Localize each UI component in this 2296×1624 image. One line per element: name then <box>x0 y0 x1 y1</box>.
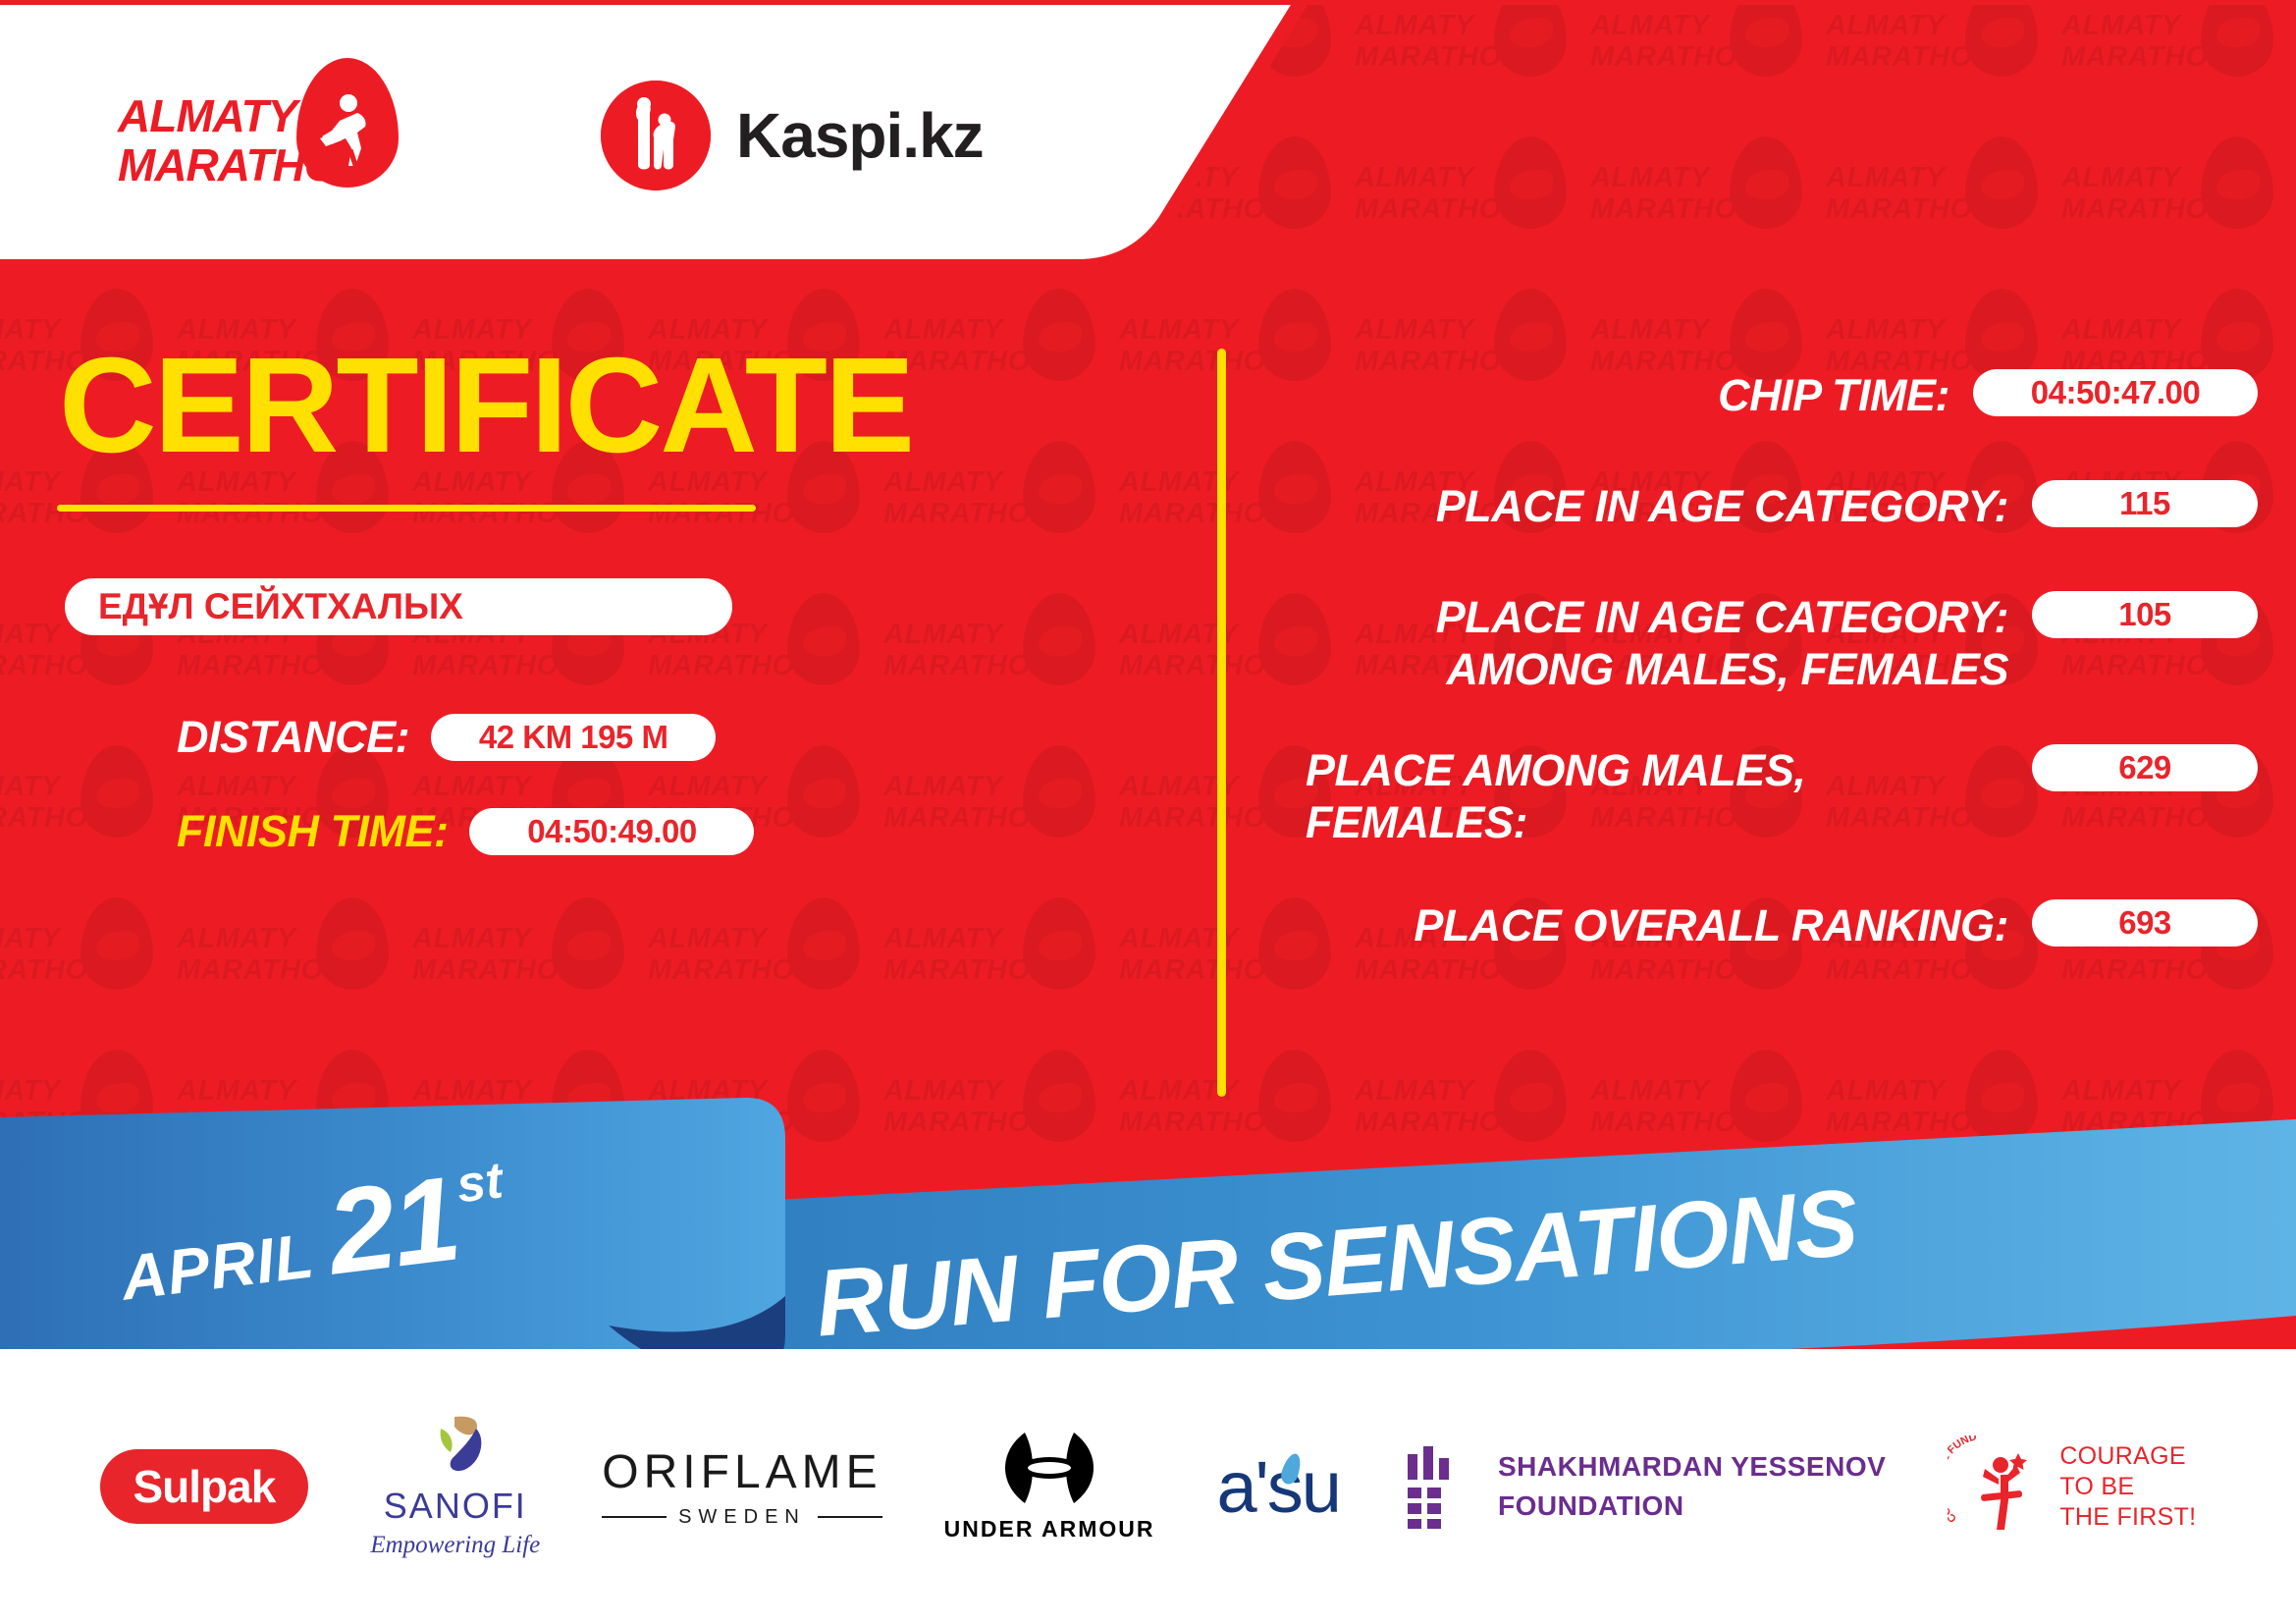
place-age-category-gender-field: 105 <box>2032 591 2258 638</box>
place-age-category-label: PLACE IN AGE CATEGORY: <box>1276 480 2008 532</box>
participant-name-value: ЕДҰЛ СЕЙХТХАЛЫХ <box>98 586 463 627</box>
event-day: 21 <box>320 1149 465 1301</box>
place-among-gender-label: PLACE AMONG MALES, FEMALES: <box>1276 744 2008 848</box>
watermark-line-2: MARATHON <box>2061 954 2229 987</box>
place-age-category-value: 115 <box>2119 485 2170 522</box>
finish-time-label: FINISH TIME: <box>177 806 448 857</box>
sponsor-asu: a'su <box>1217 1445 1340 1529</box>
place-age-category-gender-value: 105 <box>2118 596 2171 633</box>
page-title: CERTIFICATE <box>59 342 1217 469</box>
place-overall-label: PLACE OVERALL RANKING: <box>1276 899 2008 951</box>
sponsor-oriflame: ORIFLAME SWEDEN <box>602 1445 881 1529</box>
chip-time-field: 04:50:47.00 <box>1973 369 2258 416</box>
results-column: CHIP TIME: 04:50:47.00 PLACE IN AGE CATE… <box>1276 271 2258 951</box>
watermark-line-2: MARATHON <box>412 954 580 987</box>
watermark-line-2: MARATHON <box>1826 954 1994 987</box>
watermark-tile: ALMATYMARATHON <box>412 893 638 1041</box>
yessenov-line-1: SHAKHMARDAN YESSENOV <box>1498 1447 1886 1487</box>
watermark-line-1: ALMATY <box>177 923 296 955</box>
watermark-line-1: ALMATY <box>412 923 532 955</box>
sulpak-wordmark: Sulpak <box>133 1460 276 1513</box>
almaty-marathon-logo: ALMATY MARATHON <box>118 62 442 209</box>
kaspi-wordmark: Kaspi.kz <box>736 99 984 172</box>
asu-wordmark: a'su <box>1217 1445 1340 1529</box>
place-age-category-gender-row: PLACE IN AGE CATEGORY: AMONG MALES, FEMA… <box>1276 591 2258 695</box>
finish-time-row: FINISH TIME: 04:50:49.00 <box>177 806 1217 857</box>
watermark-drop-icon <box>316 897 389 990</box>
label-line-2: FEMALES: <box>1306 797 1527 847</box>
place-among-gender-row: PLACE AMONG MALES, FEMALES: 629 <box>1276 744 2258 848</box>
sponsor-yessenov-foundation: SHAKHMARDAN YESSENOV FOUNDATION <box>1402 1444 1886 1529</box>
sanofi-tagline: Empowering Life <box>370 1532 540 1559</box>
sponsor-under-armour: UNDER ARMOUR <box>944 1431 1155 1543</box>
distance-row: DISTANCE: 42 KM 195 M <box>177 712 1217 763</box>
yessenov-wordmark: SHAKHMARDAN YESSENOV FOUNDATION <box>1498 1447 1886 1526</box>
oriflame-country: SWEDEN <box>678 1506 806 1529</box>
distance-field: 42 KM 195 M <box>431 714 716 761</box>
logo-line-2: MARATHON <box>118 140 370 189</box>
watermark-tile: ALMATYMARATHON <box>0 893 167 1041</box>
under-armour-wordmark: UNDER ARMOUR <box>944 1516 1155 1543</box>
place-overall-row: PLACE OVERALL RANKING: 693 <box>1276 899 2258 951</box>
oriflame-sub: SWEDEN <box>602 1506 881 1529</box>
header: ALMATY MARATHON Kaspi.kz <box>0 0 2296 271</box>
header-logos: ALMATY MARATHON Kaspi.kz <box>0 0 1178 271</box>
rule-left <box>602 1516 667 1518</box>
participant-name-field: ЕДҰЛ СЕЙХТХАЛЫХ <box>65 578 732 635</box>
watermark-line-1: ALMATY <box>883 923 1003 955</box>
sanofi-icon <box>421 1415 490 1478</box>
svg-text:CORPORATE FUND: CORPORATE FUND <box>1948 1435 1978 1525</box>
label-line-1: PLACE AMONG MALES, <box>1306 745 1805 795</box>
place-age-category-field: 115 <box>2032 480 2258 527</box>
watermark-tile: ALMATYMARATHON <box>883 893 1109 1041</box>
watermark-tile: ALMATYMARATHON <box>177 893 402 1041</box>
distance-label: DISTANCE: <box>177 712 409 763</box>
logo-line-1: ALMATY <box>118 91 370 140</box>
sponsor-sanofi: SANOFI Empowering Life <box>370 1415 540 1559</box>
watermark-line-2: MARATHON <box>883 954 1051 987</box>
vertical-divider <box>1217 349 1226 1097</box>
watermark-line-2: MARATHON <box>648 954 816 987</box>
kaspi-logo: Kaspi.kz <box>601 81 984 190</box>
rule-right <box>818 1516 882 1518</box>
courage-line-2: TO BE <box>2059 1472 2196 1502</box>
watermark-line-2: MARATHON <box>0 954 109 987</box>
place-overall-field: 693 <box>2032 899 2258 947</box>
yessenov-line-2: FOUNDATION <box>1498 1487 1886 1526</box>
certificate-canvas: ALMATYMARATHONALMATYMARATHONALMATYMARATH… <box>0 0 2296 1624</box>
watermark-line-2: MARATHON <box>1119 954 1287 987</box>
watermark-tile: ALMATYMARATHON <box>648 893 874 1041</box>
event-month: APRIL <box>117 1218 318 1314</box>
watermark-line-1: ALMATY <box>0 923 61 955</box>
chip-time-row: CHIP TIME: 04:50:47.00 <box>1276 369 2258 421</box>
place-among-gender-field: 629 <box>2032 744 2258 791</box>
kaspi-people-icon <box>601 81 711 190</box>
place-age-category-row: PLACE IN AGE CATEGORY: 115 <box>1276 480 2258 532</box>
watermark-drop-icon <box>552 897 624 990</box>
watermark-line-1: ALMATY <box>648 923 768 955</box>
label-line-1: PLACE IN AGE CATEGORY: <box>1436 592 2008 642</box>
place-among-gender-value: 629 <box>2118 749 2171 786</box>
under-armour-icon <box>991 1431 1107 1505</box>
finish-time-value: 04:50:49.00 <box>527 813 696 850</box>
distance-value: 42 KM 195 M <box>479 719 668 756</box>
title-underline <box>57 505 756 512</box>
label-line-2: AMONG MALES, FEMALES <box>1447 644 2009 694</box>
watermark-line-2: MARATHON <box>1590 954 1758 987</box>
watermark-drop-icon <box>80 897 153 990</box>
finish-time-field: 04:50:49.00 <box>469 808 754 855</box>
place-overall-value: 693 <box>2118 904 2171 942</box>
watermark-line-2: MARATHON <box>1355 954 1522 987</box>
chip-time-label: CHIP TIME: <box>1276 369 1949 421</box>
courage-fund-icon: CORPORATE FUND <box>1948 1435 2050 1538</box>
almaty-marathon-wordmark: ALMATY MARATHON <box>118 91 370 189</box>
sponsor-bar: Sulpak SANOFI Empowering Life ORIFLAME S… <box>0 1349 2296 1624</box>
sanofi-wordmark: SANOFI <box>384 1486 527 1527</box>
chip-time-value: 04:50:47.00 <box>2031 374 2200 411</box>
yessenov-icon <box>1402 1444 1476 1529</box>
left-column: CERTIFICATE ЕДҰЛ СЕЙХТХАЛЫХ DISTANCE: 42… <box>0 271 1217 857</box>
watermark-drop-icon <box>787 897 860 990</box>
sponsor-sulpak: Sulpak <box>100 1449 309 1524</box>
event-day-suffix: st <box>454 1151 506 1215</box>
oriflame-wordmark: ORIFLAME <box>602 1445 881 1499</box>
sponsor-courage-fund: CORPORATE FUND COURAGE TO BE THE FIRST! <box>1948 1435 2196 1538</box>
watermark-line-2: MARATHON <box>177 954 345 987</box>
watermark-drop-icon <box>1023 897 1095 990</box>
place-age-category-gender-label: PLACE IN AGE CATEGORY: AMONG MALES, FEMA… <box>1276 591 2008 695</box>
courage-line-3: THE FIRST! <box>2059 1502 2196 1533</box>
courage-fund-wordmark: COURAGE TO BE THE FIRST! <box>2059 1441 2196 1533</box>
courage-line-1: COURAGE <box>2059 1441 2196 1472</box>
